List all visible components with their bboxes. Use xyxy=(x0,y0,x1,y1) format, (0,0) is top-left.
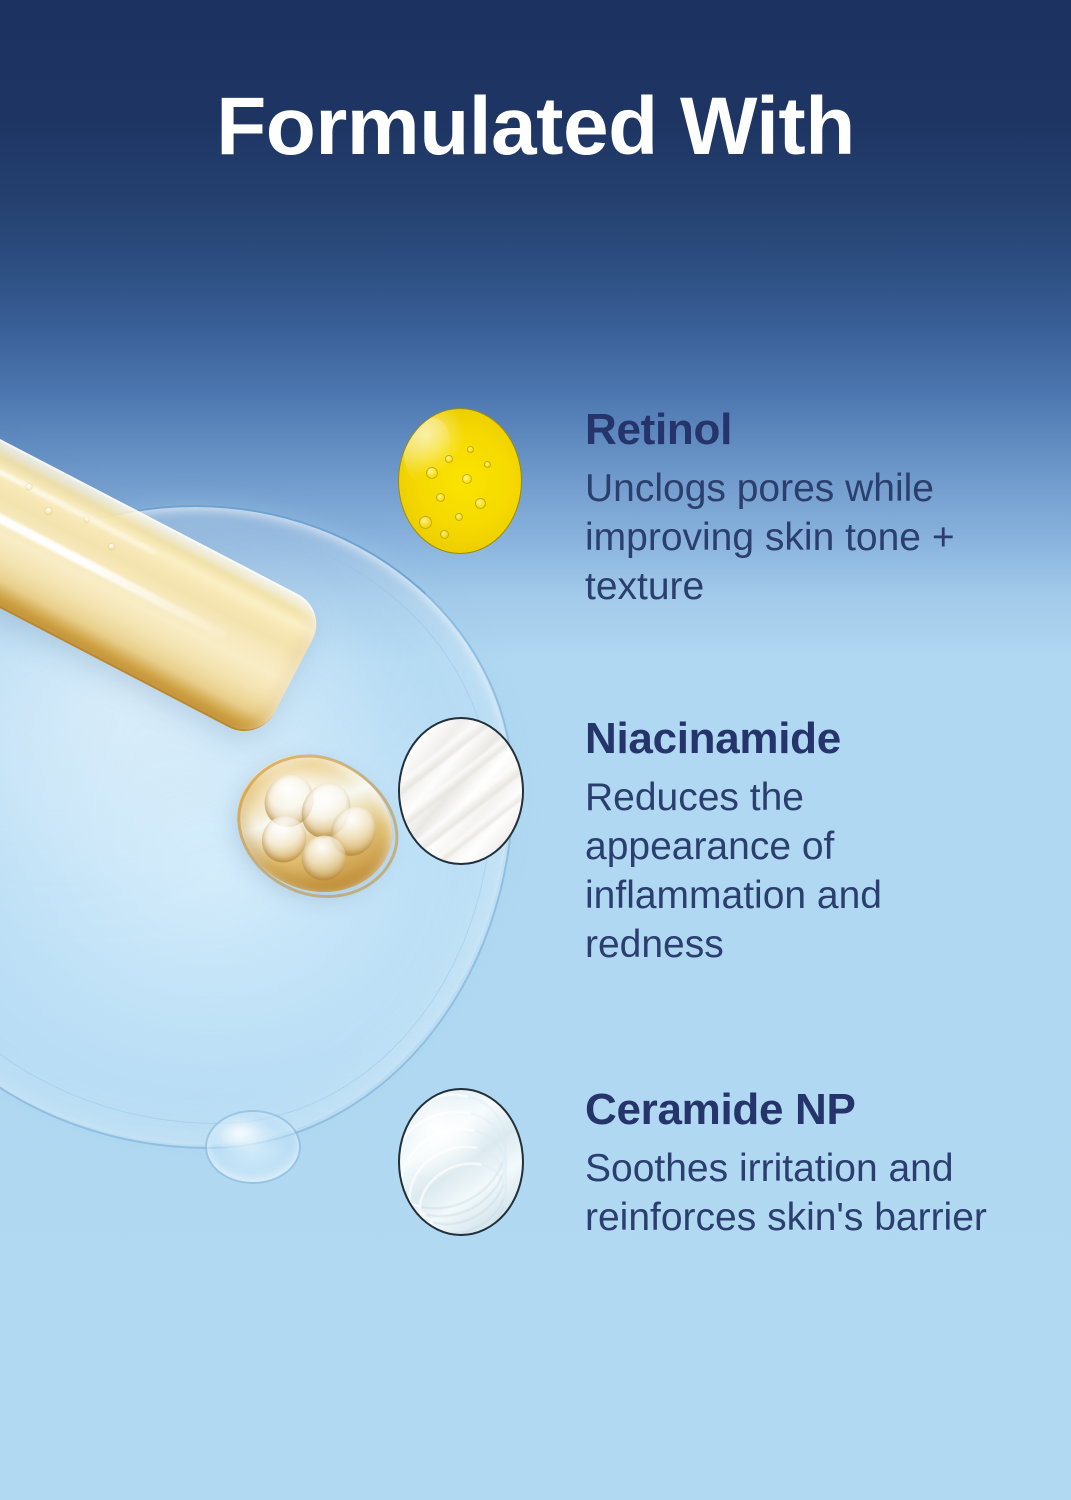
gel-bubble-icon xyxy=(440,530,449,539)
ingredient-text-ceramide: Ceramide NP Soothes irritation and reinf… xyxy=(585,1088,1005,1242)
ingredient-text-niacinamide: Niacinamide Reduces the appearance of in… xyxy=(585,717,1005,970)
gel-bubble-icon xyxy=(462,474,472,484)
infographic-canvas: Formulated With xyxy=(0,0,1071,1500)
gel-bubble-icon xyxy=(419,516,432,529)
ingredient-description: Soothes irritation and reinforces skin's… xyxy=(585,1144,1005,1242)
serum-droplet xyxy=(205,1110,301,1184)
ingredient-name: Retinol xyxy=(585,408,1005,452)
gel-bubble-icon xyxy=(484,461,491,468)
ingredient-name: Ceramide NP xyxy=(585,1088,1005,1132)
gel-bubble-icon xyxy=(455,513,463,521)
page-title: Formulated With xyxy=(0,84,1071,170)
ingredient-description: Reduces the appearance of inflammation a… xyxy=(585,773,1005,970)
gel-bubble-icon xyxy=(445,455,453,463)
ingredient-name: Niacinamide xyxy=(585,717,1005,761)
gel-bubble-icon xyxy=(467,446,474,453)
gel-bubble-icon xyxy=(426,467,438,479)
gel-bubble-icon xyxy=(475,498,486,509)
clear-gel-swatch-icon xyxy=(398,1088,524,1236)
white-cream-swatch-icon xyxy=(398,717,524,865)
gel-bubble-icon xyxy=(436,493,445,502)
yellow-gel-swatch-icon xyxy=(398,408,522,554)
ingredient-description: Unclogs pores while improving skin tone … xyxy=(585,464,1005,611)
ingredient-text-retinol: Retinol Unclogs pores while improving sk… xyxy=(585,408,1005,611)
